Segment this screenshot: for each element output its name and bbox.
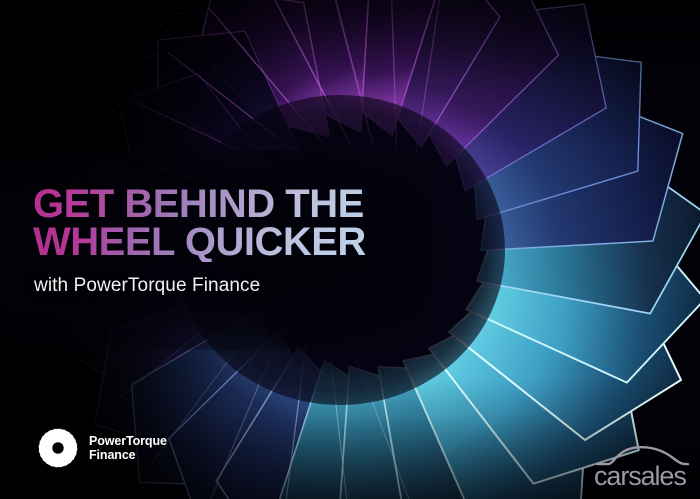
headline-line-2: WHEEL QUICKER xyxy=(33,223,463,261)
promo-banner: GET BEHIND THE WHEEL QUICKER with PowerT… xyxy=(0,0,700,499)
subheadline: with PowerTorque Finance xyxy=(34,275,260,297)
powertorque-name: PowerTorque xyxy=(89,434,167,449)
powertorque-wordmark: PowerTorque Finance xyxy=(89,434,167,463)
powertorque-logo-lockup: PowerTorque Finance xyxy=(36,426,167,470)
carsales-logo-lockup: carsales xyxy=(594,445,692,490)
headline: GET BEHIND THE WHEEL QUICKER xyxy=(33,185,463,262)
powertorque-turbine-mark xyxy=(36,426,80,470)
headline-line-1: GET BEHIND THE xyxy=(33,185,463,223)
powertorque-descriptor: Finance xyxy=(89,448,167,463)
carsales-wordmark: carsales xyxy=(594,463,686,490)
